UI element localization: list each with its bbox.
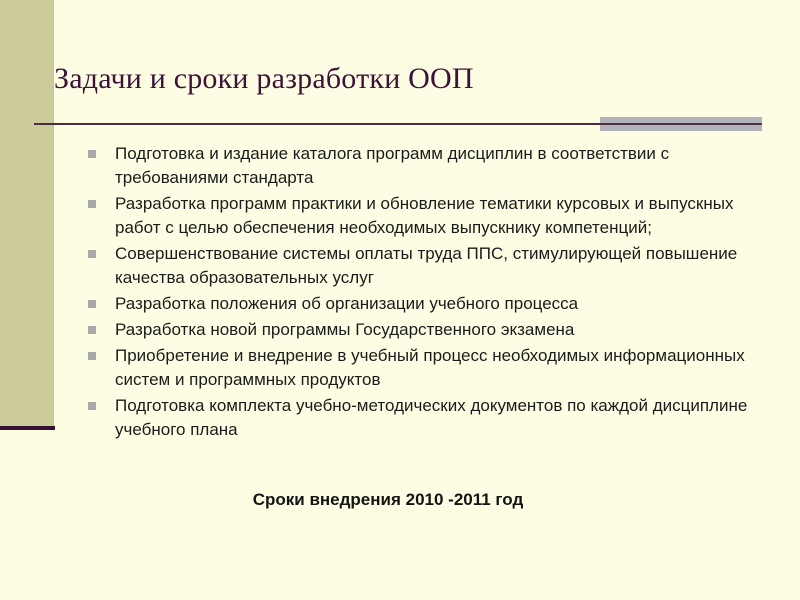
left-decorative-band bbox=[0, 0, 54, 426]
slide: Задачи и сроки разработки ООП Подготовка… bbox=[0, 0, 800, 600]
list-item-text: Приобретение и внедрение в учебный проце… bbox=[115, 344, 748, 392]
list-item-text: Совершенствование системы оплаты труда П… bbox=[115, 242, 748, 290]
list-item: Разработка новой программы Государственн… bbox=[88, 318, 748, 342]
divider-thin-line bbox=[34, 123, 762, 125]
title-divider bbox=[0, 112, 800, 134]
list-item: Подготовка комплекта учебно-методических… bbox=[88, 394, 748, 442]
list-item-text: Разработка новой программы Государственн… bbox=[115, 318, 748, 342]
square-bullet-icon bbox=[88, 200, 96, 208]
left-band-foot-accent bbox=[0, 426, 55, 430]
list-item: Подготовка и издание каталога программ д… bbox=[88, 142, 748, 190]
square-bullet-icon bbox=[88, 352, 96, 360]
list-item-text: Подготовка комплекта учебно-методических… bbox=[115, 394, 748, 442]
list-item-text: Разработка положения об организации учеб… bbox=[115, 292, 748, 316]
list-item: Совершенствование системы оплаты труда П… bbox=[88, 242, 748, 290]
list-item-text: Разработка программ практики и обновлени… bbox=[115, 192, 748, 240]
list-item-text: Подготовка и издание каталога программ д… bbox=[115, 142, 748, 190]
square-bullet-icon bbox=[88, 300, 96, 308]
list-item: Разработка программ практики и обновлени… bbox=[88, 192, 748, 240]
list-item: Разработка положения об организации учеб… bbox=[88, 292, 748, 316]
left-band-edge bbox=[0, 0, 54, 426]
square-bullet-icon bbox=[88, 150, 96, 158]
list-item: Приобретение и внедрение в учебный проце… bbox=[88, 344, 748, 392]
bullet-list: Подготовка и издание каталога программ д… bbox=[88, 142, 748, 444]
deadline-statement: Сроки внедрения 2010 -2011 год bbox=[88, 488, 688, 512]
square-bullet-icon bbox=[88, 250, 96, 258]
square-bullet-icon bbox=[88, 326, 96, 334]
page-title: Задачи и сроки разработки ООП bbox=[54, 62, 754, 96]
square-bullet-icon bbox=[88, 402, 96, 410]
